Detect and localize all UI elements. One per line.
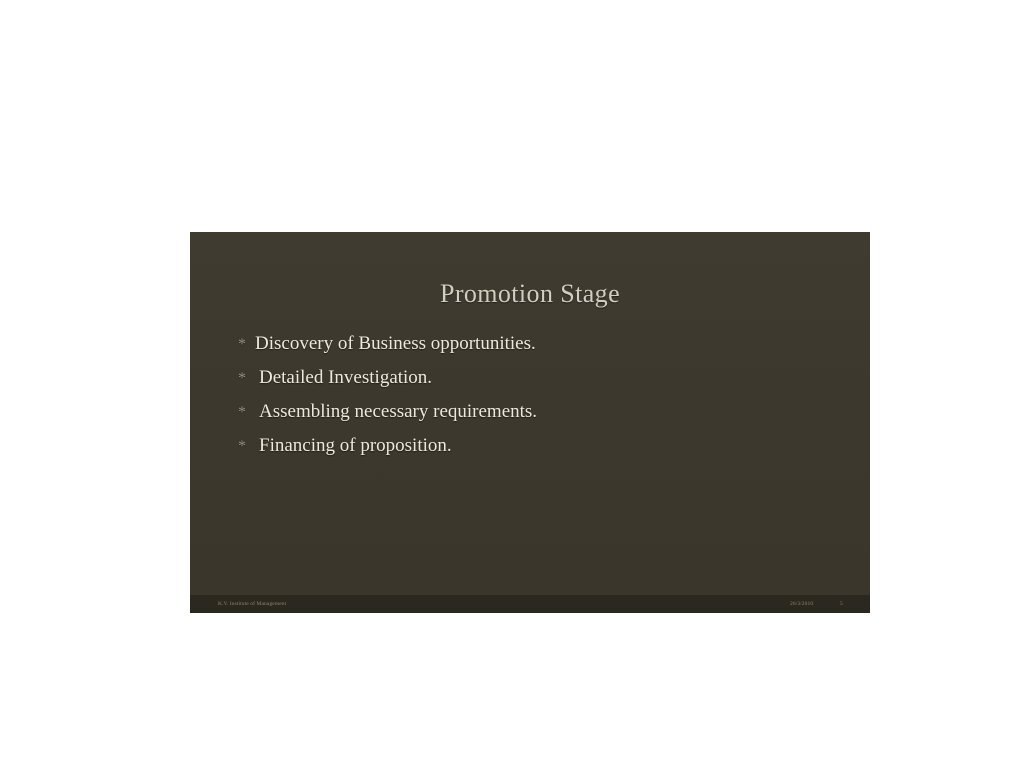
asterisk-bullet-icon: * — [238, 396, 251, 430]
list-item-label: Detailed Investigation. — [251, 361, 432, 395]
slide-content-area: Promotion Stage * Discovery of Business … — [190, 232, 870, 613]
slide-footer: K.V. Institute of Management 26/3/2010 5 — [190, 595, 870, 613]
footer-date-label: 26/3/2010 — [790, 601, 813, 607]
bullet-list: * Discovery of Business opportunities. *… — [238, 327, 838, 463]
asterisk-bullet-icon: * — [238, 328, 251, 362]
asterisk-bullet-icon: * — [238, 362, 251, 396]
list-item-label: Discovery of Business opportunities. — [251, 327, 536, 361]
list-item: * Assembling necessary requirements. — [238, 395, 838, 429]
list-item-label: Assembling necessary requirements. — [251, 395, 537, 429]
footer-organization-label: K.V. Institute of Management — [218, 601, 286, 607]
slide-title: Promotion Stage — [190, 280, 870, 309]
list-item-label: Financing of proposition. — [251, 429, 452, 463]
list-item: * Financing of proposition. — [238, 429, 838, 463]
list-item: * Detailed Investigation. — [238, 361, 838, 395]
list-item: * Discovery of Business opportunities. — [238, 327, 838, 361]
presentation-slide: Promotion Stage * Discovery of Business … — [190, 232, 870, 613]
footer-page-number: 5 — [840, 601, 843, 607]
asterisk-bullet-icon: * — [238, 430, 251, 464]
